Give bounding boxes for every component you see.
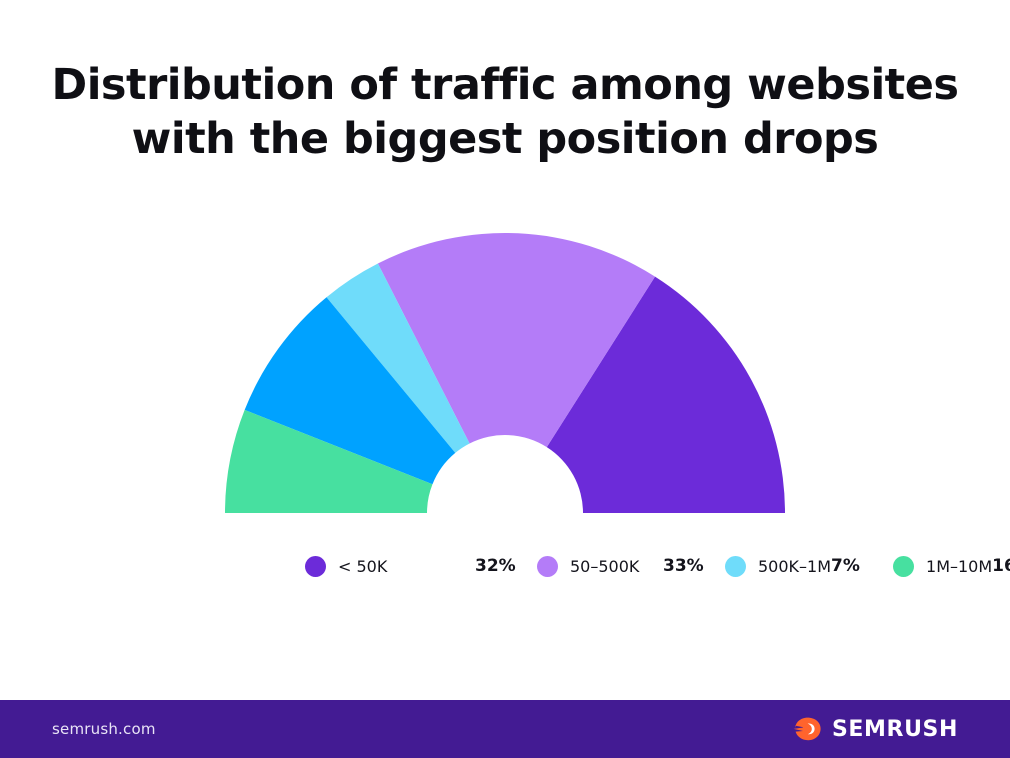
semi-donut-slice-group [225, 233, 785, 513]
legend-swatch-icon [725, 556, 746, 577]
semi-donut-slice[interactable] [547, 277, 785, 513]
semi-donut-slice[interactable] [245, 297, 456, 484]
legend-item-lt-50k[interactable]: < 50K 32% [305, 548, 537, 584]
legend-value: 7% [831, 556, 893, 576]
legend-swatch-icon [893, 556, 914, 577]
semi-donut-slice[interactable] [378, 233, 655, 447]
footer-website-url[interactable]: semrush.com [52, 720, 156, 738]
legend-value: 32% [475, 556, 537, 576]
semi-donut-slice[interactable] [225, 410, 432, 513]
legend-value: 33% [663, 556, 725, 576]
footer-bar: semrush.com SEMRUSH [0, 700, 1010, 758]
page-title: Distribution of traffic among websites w… [0, 58, 1010, 166]
semrush-wordmark: SEMRUSH [832, 717, 958, 742]
page-title-block: Distribution of traffic among websites w… [0, 58, 1010, 166]
legend-item-50-500k[interactable]: 50–500K 33% [537, 548, 725, 584]
semrush-comet-icon [793, 716, 823, 742]
chart-legend: < 50K 32% 50–500K 33% 500K–1M 7% 1M–10M … [305, 548, 725, 584]
legend-label: 500K–1M [758, 557, 831, 576]
legend-item-500k-1m[interactable]: 500K–1M 7% [725, 548, 893, 584]
legend-value: 16% [992, 556, 1010, 576]
legend-swatch-icon [305, 556, 326, 577]
semrush-logo[interactable]: SEMRUSH [793, 716, 958, 742]
legend-label: < 50K [338, 557, 387, 576]
semi-donut-slice[interactable] [327, 264, 470, 453]
legend-label: 50–500K [570, 557, 639, 576]
legend-item-1m-10m[interactable]: 1M–10M 16% [893, 548, 1010, 584]
legend-swatch-icon [537, 556, 558, 577]
legend-label: 1M–10M [926, 557, 992, 576]
